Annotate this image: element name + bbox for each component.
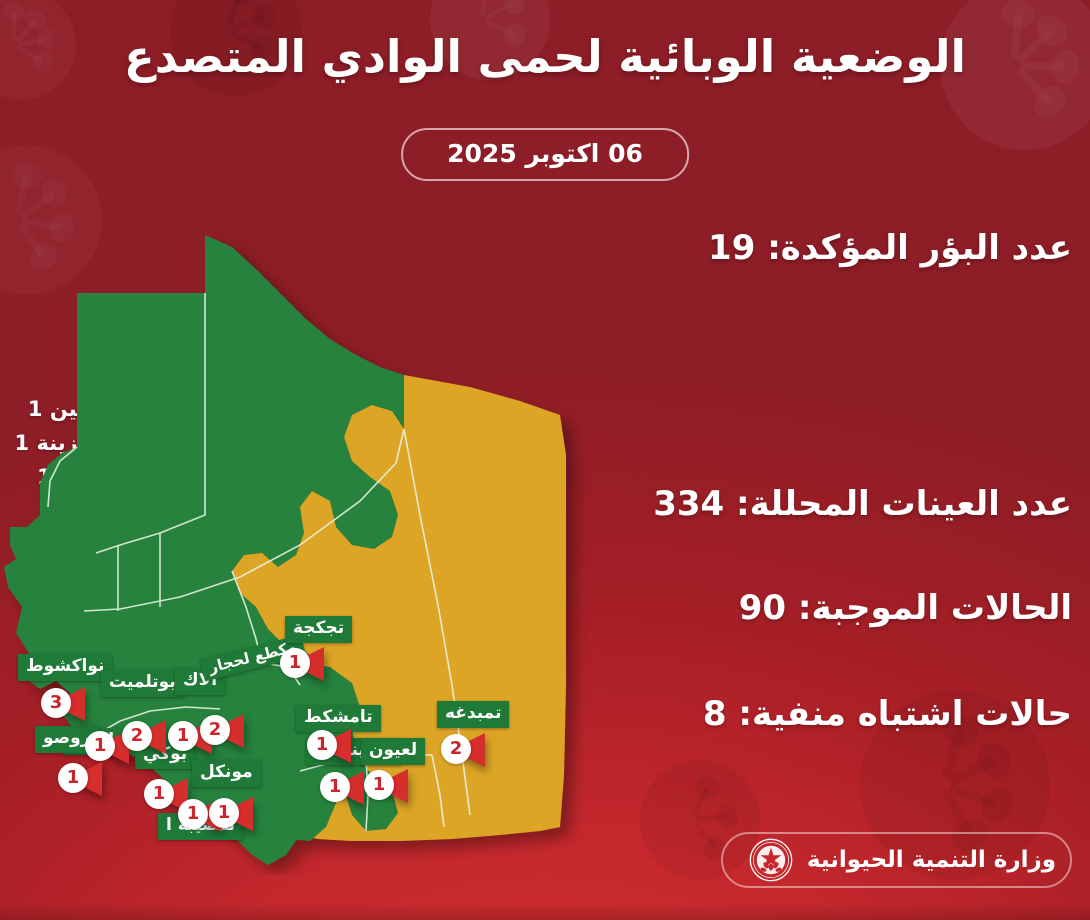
page-title: الوضعية الوبائية لحمى الوادي المتصدع: [0, 30, 1090, 85]
map-place-label: تمبدغه: [437, 701, 509, 728]
map-pin-marker[interactable]: 1: [320, 769, 366, 809]
map-pin-marker[interactable]: 2: [441, 731, 487, 771]
map-pin-marker[interactable]: 1: [58, 760, 104, 800]
mauritania-map: نواكشوطاركيزروصوبوتلميتألاكمكطع لحجاربوك…: [0, 215, 620, 875]
pin-count-badge: 1: [178, 799, 208, 829]
map-place-label: تجكجة: [285, 616, 352, 643]
pin-count-badge: 2: [441, 734, 471, 764]
stat-confirmed-foci: عدد البؤر المؤكدة: 19: [552, 228, 1072, 268]
pin-count-badge: 3: [41, 688, 71, 718]
ministry-name: وزارة التنمية الحيوانية: [807, 847, 1056, 873]
pin-count-badge: 2: [122, 721, 152, 751]
map-pin-marker[interactable]: 2: [122, 718, 168, 758]
map-pin-marker[interactable]: 2: [200, 712, 246, 752]
stat-positive-cases: الحالات الموجبة: 90: [552, 588, 1072, 628]
map-pin-marker[interactable]: 1: [307, 727, 353, 767]
map-place-label: لعيون: [361, 738, 425, 765]
stat-analyzed-samples: عدد العينات المحللة: 334: [552, 484, 1072, 524]
ministry-seal-icon: [749, 838, 793, 882]
map-place-label: نواكشوط: [18, 654, 112, 681]
report-date-badge: 06 اكتوبر 2025: [401, 128, 689, 181]
map-place-label: بوتلميت: [101, 670, 184, 697]
pin-count-badge: 1: [209, 798, 239, 828]
map-pin-marker[interactable]: 1: [209, 795, 255, 835]
pin-count-badge: 1: [58, 763, 88, 793]
pin-count-badge: 1: [364, 770, 394, 800]
pin-count-badge: 1: [320, 772, 350, 802]
map-pin-marker[interactable]: 1: [280, 645, 326, 685]
pin-count-badge: 1: [85, 731, 115, 761]
map-place-label: مونكل: [192, 760, 261, 787]
pin-count-badge: 1: [168, 721, 198, 751]
pin-count-badge: 1: [144, 779, 174, 809]
bottom-accent-bar: [0, 906, 1090, 920]
stat-negative-suspected-cases: حالات اشتباه منفية: 8: [552, 694, 1072, 734]
pin-count-badge: 1: [307, 730, 337, 760]
map-pin-marker[interactable]: 3: [41, 685, 87, 725]
infographic-poster: الوضعية الوبائية لحمى الوادي المتصدع 06 …: [0, 0, 1090, 920]
map-pin-marker[interactable]: 1: [364, 767, 410, 807]
pin-count-badge: 1: [280, 648, 310, 678]
pin-count-badge: 2: [200, 715, 230, 745]
statistics-panel: عدد البؤر المؤكدة: 19 عدد العينات المحلل…: [552, 228, 1072, 734]
ministry-footer: وزارة التنمية الحيوانية: [721, 832, 1072, 888]
